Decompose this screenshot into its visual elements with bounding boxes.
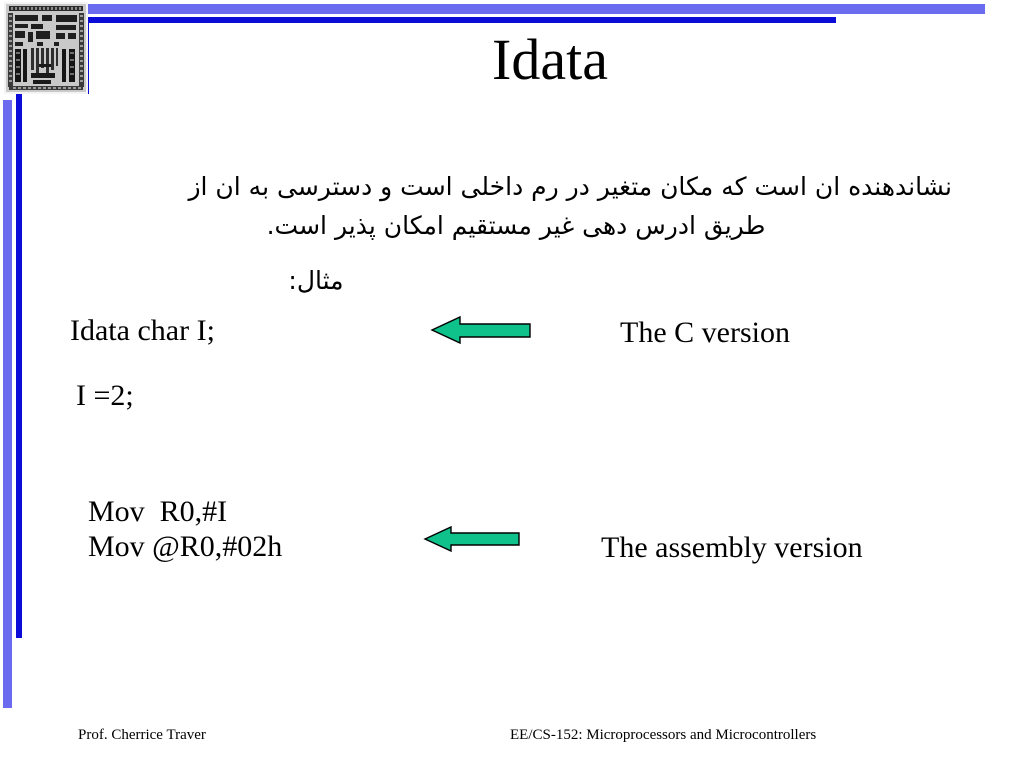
code-asm-line-2: Mov @R0,#02h <box>88 530 282 564</box>
footer-presenter: Prof. Cherrice Traver <box>78 727 206 744</box>
left-arrow-icon-c-version <box>430 315 532 345</box>
caption-assembly-version: The assembly version <box>601 531 863 565</box>
code-asm-line-1: Mov R0,#I <box>88 495 227 529</box>
rtl-paragraph-line-2: طریق ادرس دهی غیر مستقیم امکان پذیر است. <box>80 207 952 246</box>
rtl-paragraph: نشاندهنده ان است که مکان متغیر در رم داخ… <box>80 168 952 246</box>
left-dark-rule <box>16 94 22 638</box>
rtl-example-label: مثال: <box>80 266 552 295</box>
code-c-assignment: I =2; <box>76 379 134 413</box>
top-light-rule <box>88 4 985 14</box>
left-light-rule <box>3 100 12 708</box>
rtl-paragraph-line-1: نشاندهنده ان است که مکان متغیر در رم داخ… <box>80 168 952 207</box>
caption-c-version: The C version <box>620 316 790 350</box>
code-c-declaration: Idata char I; <box>70 314 215 348</box>
left-arrow-glyph <box>430 315 532 345</box>
left-arrow-glyph <box>423 525 521 553</box>
footer-course: EE/CS-152: Microprocessors and Microcont… <box>510 727 816 744</box>
page-title: Idata <box>120 30 980 91</box>
top-dark-rule <box>88 17 836 23</box>
die-photo-graphic <box>6 4 86 92</box>
microprocessor-die-logo <box>4 2 88 94</box>
left-arrow-icon-assembly-version <box>423 525 521 553</box>
